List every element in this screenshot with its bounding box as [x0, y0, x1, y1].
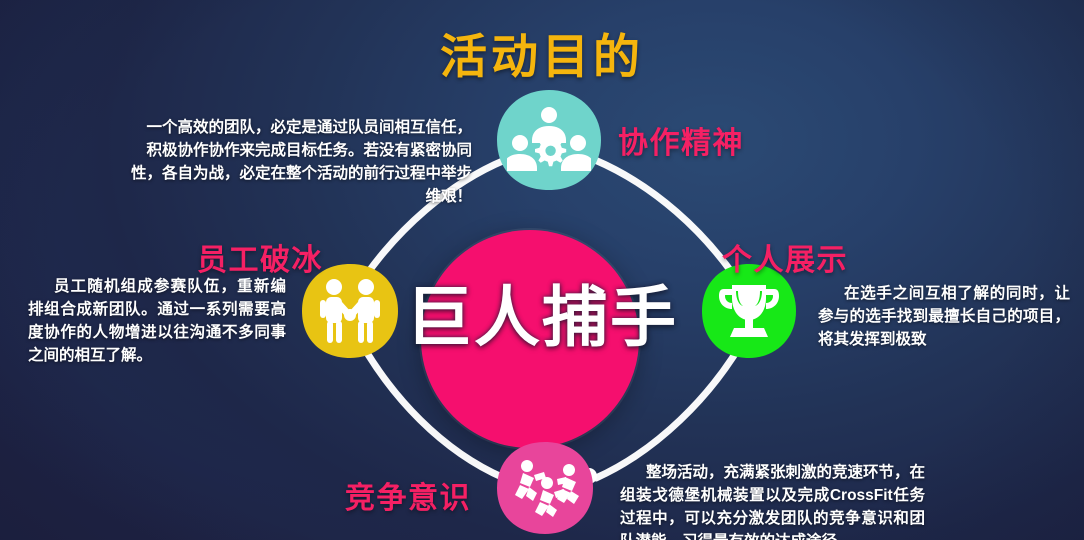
handshake-people-icon [312, 277, 388, 345]
node-title-personal-display: 个人展示 [722, 235, 848, 279]
node-title-collaboration: 协作精神 [618, 118, 744, 162]
badge-collaboration[interactable] [495, 88, 603, 192]
node-title-icebreaking: 员工破冰 [197, 235, 323, 279]
node-description-personal-display: 在选手之间互相了解的同时，让参与的选手找到最擅长自己的项目，将其发挥到极致 [818, 283, 1070, 352]
badge-competition[interactable] [495, 440, 595, 536]
runners-icon [505, 457, 585, 519]
page-title: 活动目的 [0, 18, 1084, 87]
people-gear-icon [507, 105, 591, 175]
infographic-canvas: 活动目的 巨人捕手 协作精神 一个高效的团队，必定是通过 [0, 0, 1084, 540]
node-title-competition: 竞争意识 [345, 473, 471, 517]
node-description-competition: 整场活动，充满紧张刺激的竞速环节，在组装戈德堡机械装置以及完成CrossFit任… [620, 462, 925, 540]
badge-icebreaking[interactable] [300, 262, 400, 360]
node-description-icebreaking: 员工随机组成参赛队伍，重新编排组合成新团队。通过一系列需要高度协作的人物增进以往… [28, 276, 286, 368]
trophy-icon [718, 280, 780, 342]
node-description-collaboration: 一个高效的团队，必定是通过队员间相互信任，积极协作协作来完成目标任务。若没有紧密… [120, 117, 472, 209]
